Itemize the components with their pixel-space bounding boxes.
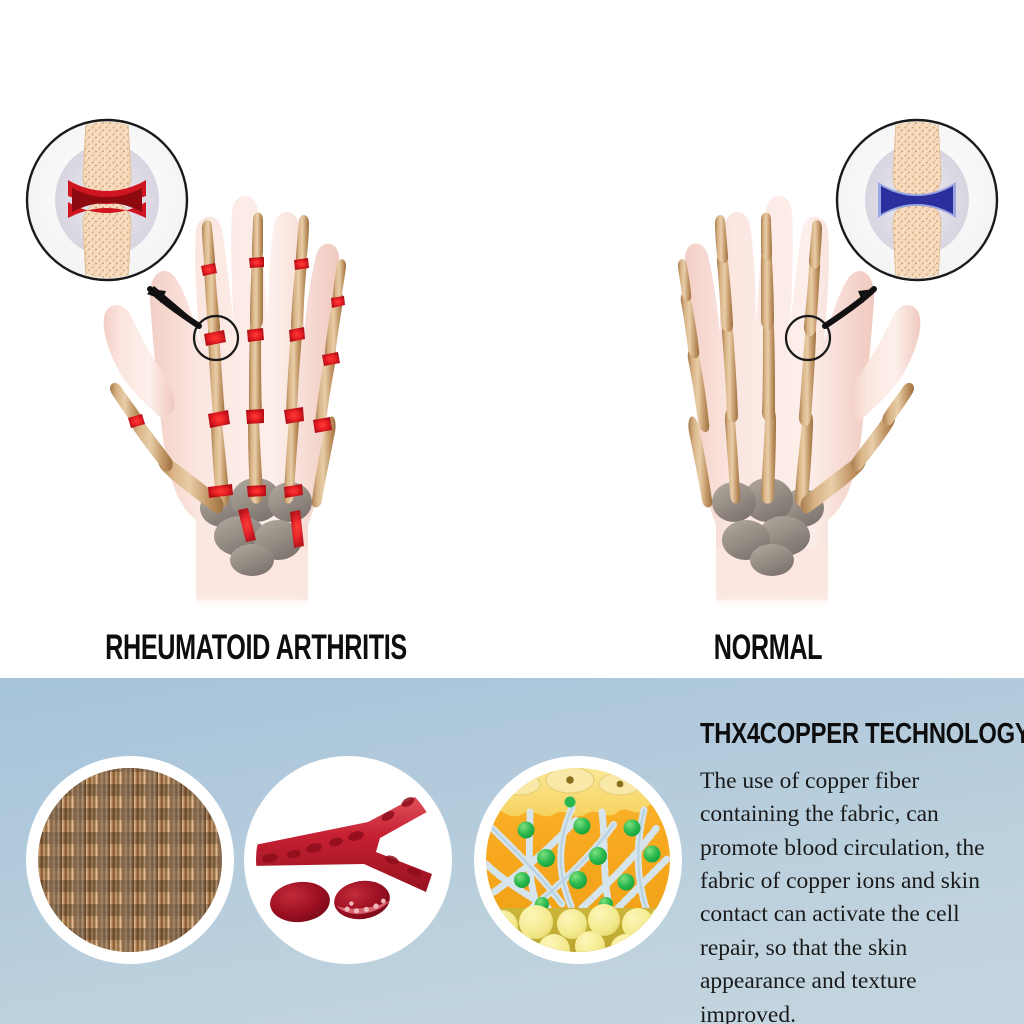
- blood-illustration: [256, 768, 440, 952]
- arthritis-joint-callout: [27, 120, 187, 280]
- arthritis-label: RHEUMATOID ARTHRITIS: [72, 628, 441, 668]
- infographic-page: RHEUMATOID ARTHRITIS: [0, 0, 1024, 1024]
- skin-collagen-cells-icon: [474, 756, 682, 964]
- weave-pattern: [38, 768, 222, 952]
- skin-illustration: [486, 768, 670, 952]
- copper-woven-fabric-icon: [26, 756, 234, 964]
- blood-vessel-circulation-icon: [244, 756, 452, 964]
- red-blood-cell: [268, 879, 332, 925]
- normal-hand-illustration: [512, 0, 1024, 630]
- normal-hand-figure: NORMAL: [512, 0, 1024, 678]
- technology-title: THX4COPPER TECHNOLOGY: [700, 718, 961, 751]
- hand-comparison-panel: RHEUMATOID ARTHRITIS: [0, 0, 1024, 678]
- technology-panel: THX4COPPER TECHNOLOGY The use of copper …: [0, 678, 1024, 1024]
- skin-collagen-svg: [486, 768, 670, 952]
- red-blood-cell: [332, 877, 393, 922]
- normal-label: NORMAL: [584, 628, 953, 668]
- technology-description: The use of copper fiber containing the f…: [700, 765, 1000, 1024]
- fabric-texture: [38, 768, 222, 952]
- blood-vessel-svg: [256, 768, 440, 952]
- arthritis-hand-illustration: [0, 0, 512, 630]
- technology-text-block: THX4COPPER TECHNOLOGY The use of copper …: [700, 718, 1018, 1024]
- arthritis-hand-figure: RHEUMATOID ARTHRITIS: [0, 0, 512, 678]
- normal-hand-svg: [512, 0, 1024, 630]
- normal-joint-callout: [837, 120, 997, 280]
- arthritis-hand-svg: [0, 0, 512, 630]
